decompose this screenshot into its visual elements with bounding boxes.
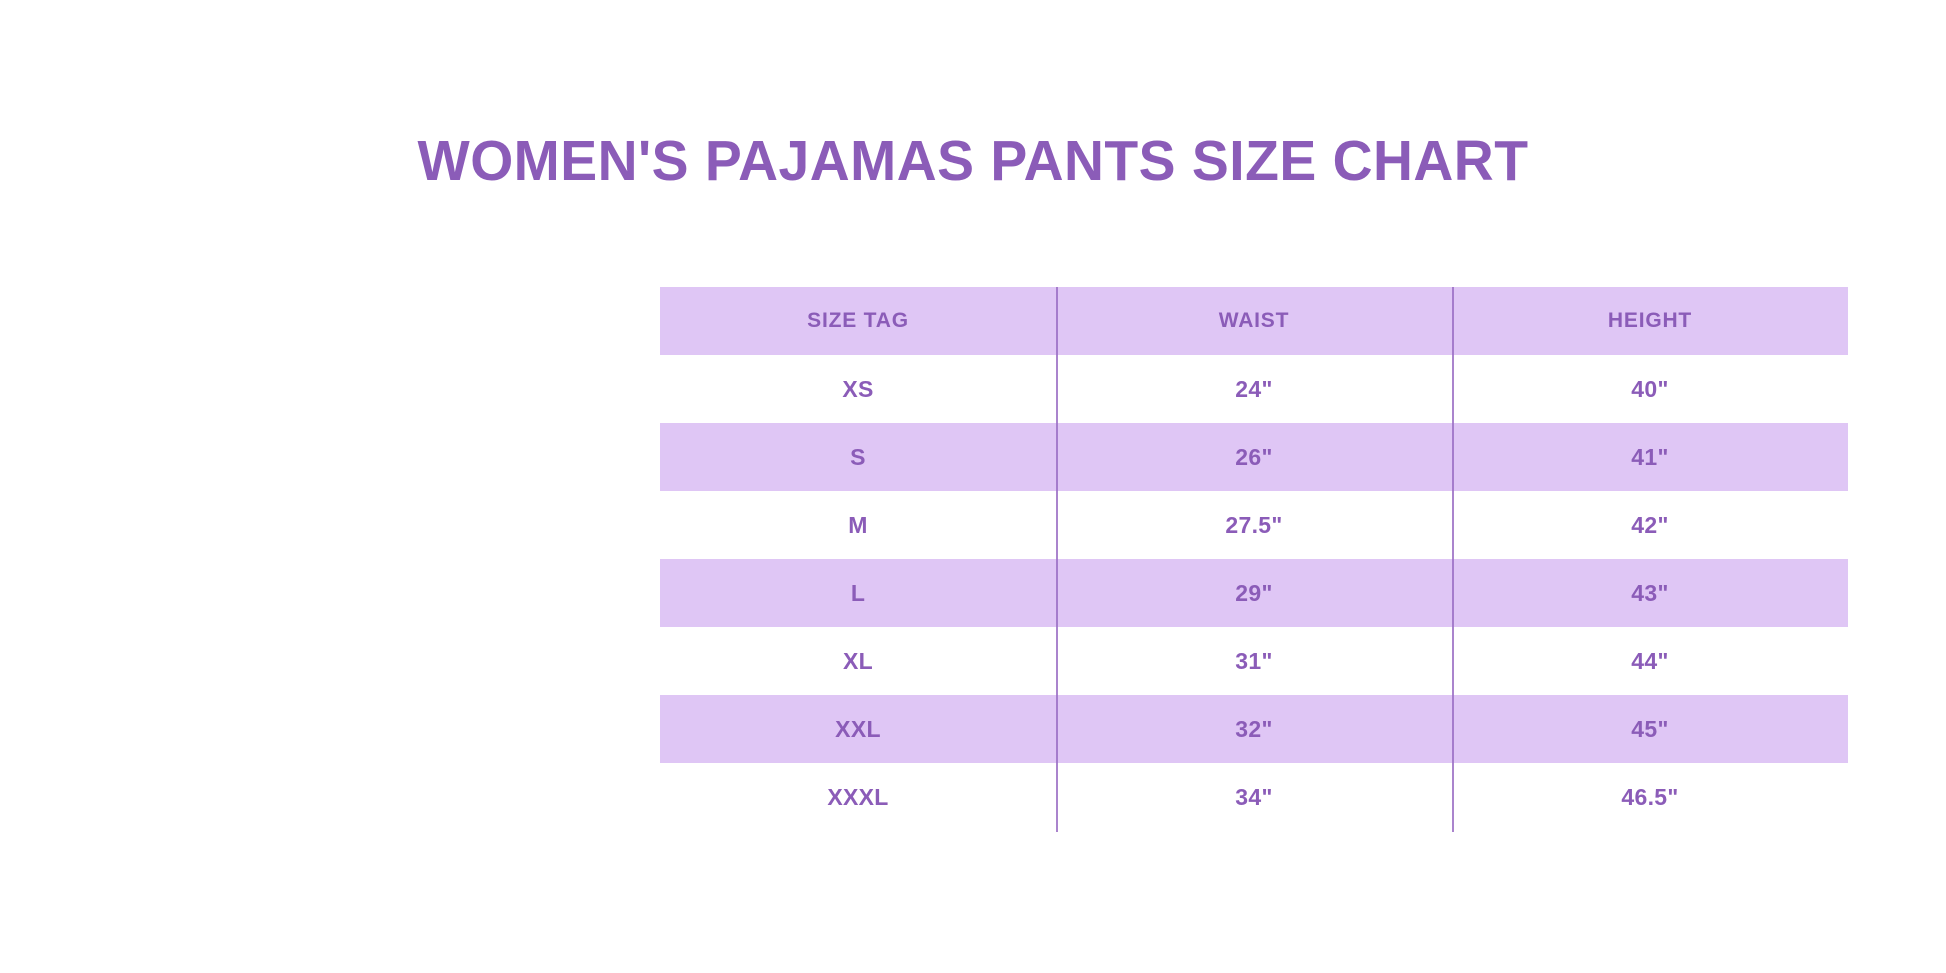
cell-height: 45" — [1452, 695, 1848, 763]
cell-height: 42" — [1452, 491, 1848, 559]
cell-size-tag: XL — [660, 627, 1056, 695]
size-chart-table-container: SIZE TAG WAIST HEIGHT XS 24" 40" S 26" 4… — [660, 287, 1848, 832]
cell-waist: 32" — [1056, 695, 1452, 763]
table-row: XL 31" 44" — [660, 627, 1848, 695]
size-chart-page: WOMEN'S PAJAMAS PANTS SIZE CHART SIZE TA… — [0, 0, 1946, 973]
cell-waist: 34" — [1056, 763, 1452, 831]
cell-size-tag: XXXL — [660, 763, 1056, 831]
cell-size-tag: XXL — [660, 695, 1056, 763]
column-header-size-tag: SIZE TAG — [660, 287, 1056, 355]
table-row: M 27.5" 42" — [660, 491, 1848, 559]
cell-height: 43" — [1452, 559, 1848, 627]
cell-waist: 31" — [1056, 627, 1452, 695]
table-row: S 26" 41" — [660, 423, 1848, 491]
table-row: L 29" 43" — [660, 559, 1848, 627]
table-row: XXL 32" 45" — [660, 695, 1848, 763]
column-header-height: HEIGHT — [1452, 287, 1848, 355]
cell-height: 44" — [1452, 627, 1848, 695]
cell-size-tag: M — [660, 491, 1056, 559]
table-row: XXXL 34" 46.5" — [660, 763, 1848, 831]
cell-size-tag: S — [660, 423, 1056, 491]
table-header: SIZE TAG WAIST HEIGHT — [660, 287, 1848, 355]
table-header-row: SIZE TAG WAIST HEIGHT — [660, 287, 1848, 355]
cell-waist: 26" — [1056, 423, 1452, 491]
cell-waist: 27.5" — [1056, 491, 1452, 559]
column-header-waist: WAIST — [1056, 287, 1452, 355]
cell-waist: 29" — [1056, 559, 1452, 627]
table-row: XS 24" 40" — [660, 355, 1848, 423]
page-title: WOMEN'S PAJAMAS PANTS SIZE CHART — [29, 130, 1917, 192]
table-body: XS 24" 40" S 26" 41" M 27.5" 42" L 29" — [660, 355, 1848, 831]
cell-waist: 24" — [1056, 355, 1452, 423]
cell-height: 40" — [1452, 355, 1848, 423]
cell-size-tag: L — [660, 559, 1056, 627]
cell-height: 41" — [1452, 423, 1848, 491]
size-chart-table: SIZE TAG WAIST HEIGHT XS 24" 40" S 26" 4… — [660, 287, 1848, 831]
cell-size-tag: XS — [660, 355, 1056, 423]
cell-height: 46.5" — [1452, 763, 1848, 831]
